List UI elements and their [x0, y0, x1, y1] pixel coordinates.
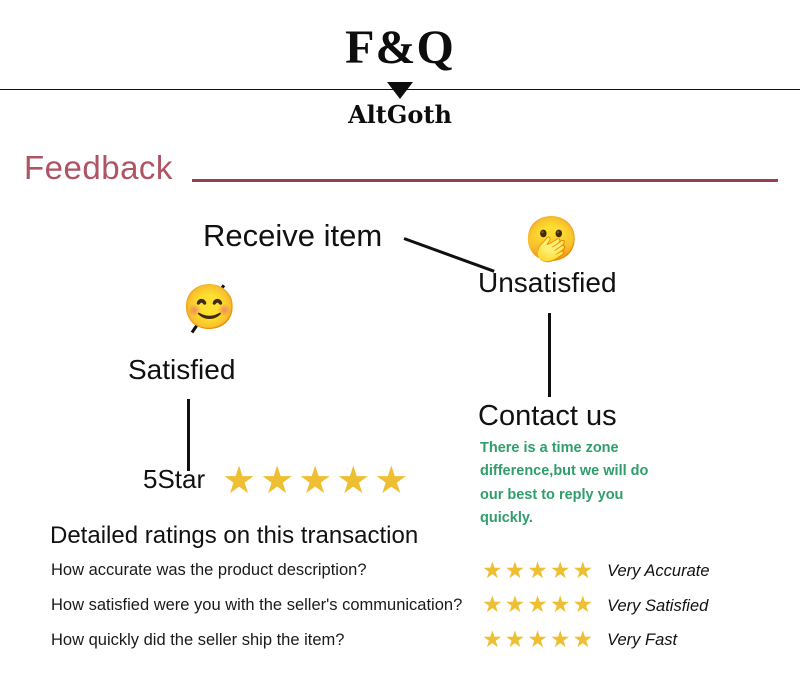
- star-rating-icons: ★★★★★: [482, 560, 595, 583]
- detailed-ratings-title: Detailed ratings on this transaction: [50, 524, 418, 548]
- star-rating-icons: ★★★★★: [482, 594, 595, 617]
- five-star-rating-icons: ★★★★★: [222, 461, 412, 499]
- rating-label: Very Satisfied: [607, 598, 708, 615]
- flow-node-5star-label: 5Star: [143, 466, 205, 492]
- detailed-ratings-result-list: ★★★★★ Very Accurate ★★★★★ Very Satisfied…: [482, 554, 782, 658]
- feedback-section-title: Feedback: [24, 150, 173, 186]
- contact-us-body-text: There is a time zone difference,but we w…: [480, 437, 670, 531]
- list-item: How quickly did the seller ship the item…: [51, 632, 471, 649]
- list-item: ★★★★★ Very Fast: [482, 623, 782, 658]
- triangle-down-icon: [387, 82, 413, 99]
- star-rating-icons: ★★★★★: [482, 629, 595, 652]
- flow-node-unsatisfied: Unsatisfied: [478, 269, 617, 297]
- brand-logo-text: AltGoth: [0, 102, 800, 128]
- connector-satisfied-to-5star: [187, 399, 190, 471]
- smiling-face-emoji: 😊: [182, 286, 237, 330]
- connector-unsatisfied-to-contact: [548, 313, 551, 397]
- page-title: F&Q: [0, 24, 800, 72]
- detailed-ratings-question-list: How accurate was the product description…: [51, 562, 471, 667]
- flow-node-satisfied: Satisfied: [128, 356, 235, 384]
- list-item: How accurate was the product description…: [51, 562, 471, 579]
- list-item: ★★★★★ Very Accurate: [482, 554, 782, 589]
- feedback-section-rule: [192, 179, 778, 182]
- list-item: ★★★★★ Very Satisfied: [482, 589, 782, 624]
- contact-us-heading: Contact us: [478, 402, 617, 431]
- list-item: How satisfied were you with the seller's…: [51, 597, 471, 614]
- rating-label: Very Fast: [607, 632, 677, 649]
- flow-node-receive-item: Receive item: [203, 220, 382, 251]
- frowning-face-with-hand-emoji: 🫢: [524, 218, 579, 262]
- page-canvas: F&Q AltGoth Feedback Receive item 🫢 Unsa…: [0, 0, 800, 680]
- rating-label: Very Accurate: [607, 563, 709, 580]
